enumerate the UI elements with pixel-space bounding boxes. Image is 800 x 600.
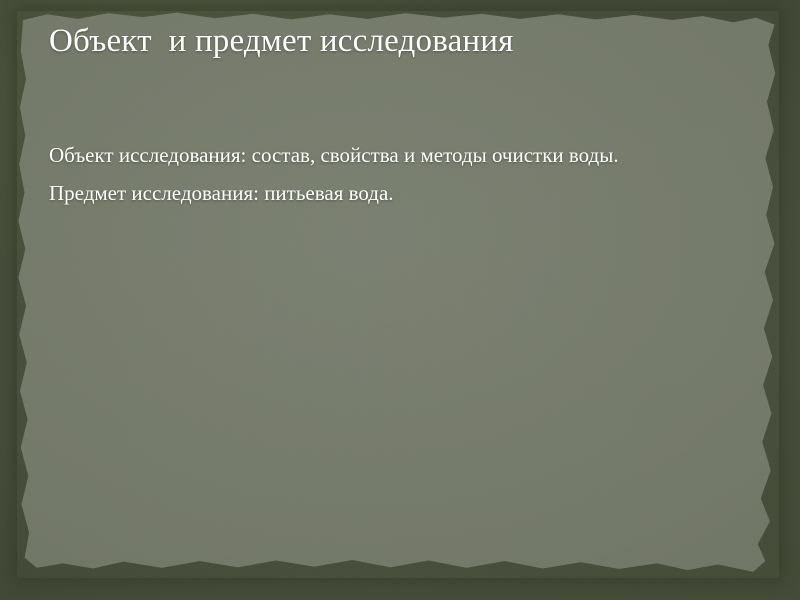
- slide-content: Объект и предмет исследования Объект исс…: [0, 0, 800, 600]
- slide-title-block: Объект и предмет исследования: [49, 18, 689, 65]
- slide-body-block: Объект исследования: состав, свойства и …: [49, 140, 709, 208]
- body-paragraph-object: Объект исследования: состав, свойства и …: [49, 140, 709, 170]
- body-paragraph-subject: Предмет исследования: питьевая вода.: [49, 178, 709, 208]
- slide-title: Объект и предмет исследования: [49, 18, 689, 65]
- presentation-slide: Объект и предмет исследования Объект исс…: [0, 0, 800, 600]
